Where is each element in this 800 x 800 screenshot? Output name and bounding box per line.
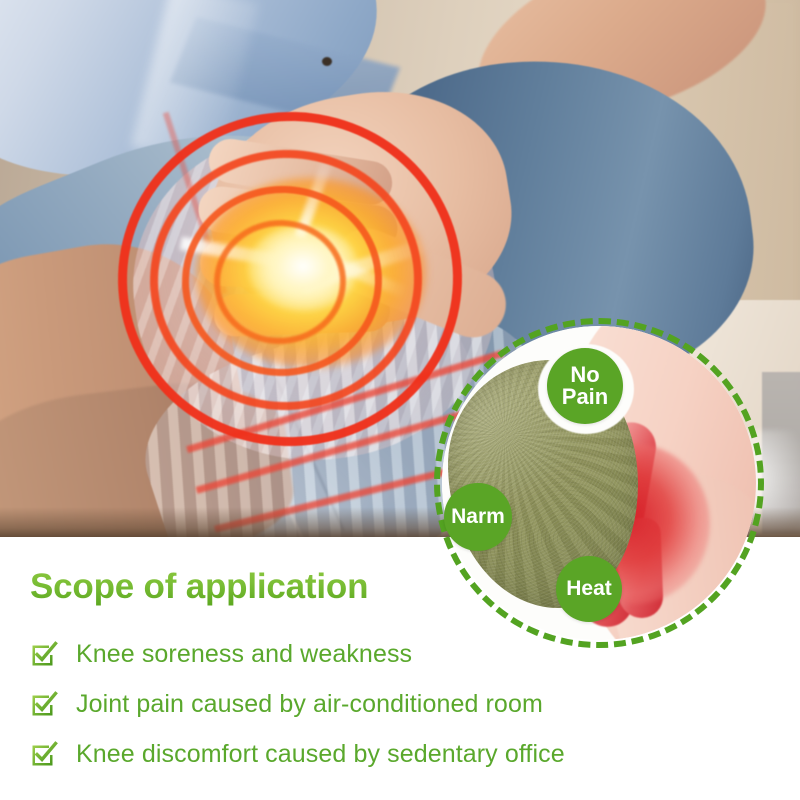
list-item: Knee discomfort caused by sedentary offi… — [28, 729, 768, 779]
badge-heat: Heat — [556, 556, 622, 622]
list-item: Joint pain caused by air-conditioned roo… — [28, 679, 768, 729]
badge-no-pain: No Pain — [547, 348, 623, 424]
badge-narm: Narm — [444, 483, 512, 551]
badge-narm-label: Narm — [451, 506, 505, 527]
page-title: Scope of application — [30, 567, 368, 607]
checkbox-checked-icon — [28, 688, 60, 720]
checkbox-checked-icon — [28, 738, 60, 770]
list-item-label: Joint pain caused by air-conditioned roo… — [76, 692, 543, 717]
benefit-list: Knee soreness and weakness Joint pain ca… — [28, 629, 768, 779]
shirt-button — [322, 57, 332, 66]
list-item-label: Knee discomfort caused by sedentary offi… — [76, 742, 565, 767]
product-poster: Scope of application Knee soreness and w… — [0, 0, 800, 800]
product-inset: No Pain Narm Heat — [434, 318, 764, 648]
checkbox-checked-icon — [28, 638, 60, 670]
list-item-label: Knee soreness and weakness — [76, 642, 412, 667]
badge-heat-label: Heat — [566, 578, 612, 599]
badge-no-pain-label: No Pain — [562, 364, 608, 409]
